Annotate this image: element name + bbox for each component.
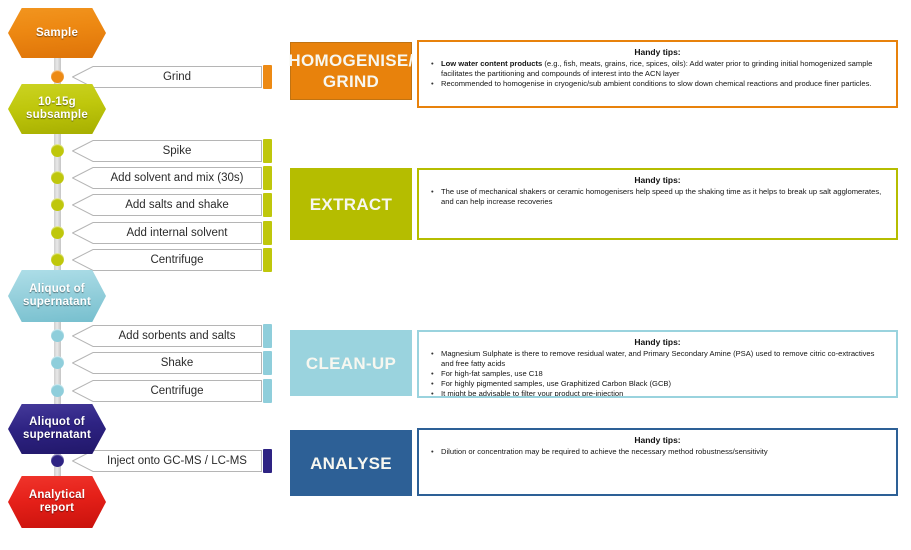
flow-step-endcap bbox=[263, 351, 272, 375]
flow-step-endcap bbox=[263, 379, 272, 403]
flow-node-label: Aliquot of supernatant bbox=[8, 416, 106, 442]
flow-node-3: Aliquot of supernatant bbox=[8, 270, 106, 322]
flow-step-label: Add internal solvent bbox=[72, 222, 262, 244]
stage-label-text: EXTRACT bbox=[306, 194, 396, 215]
bullet-icon: • bbox=[431, 187, 434, 197]
handy-tips-box-1: Handy tips:•Low water content products (… bbox=[417, 40, 898, 108]
handy-tips-title: Handy tips: bbox=[428, 175, 887, 186]
handy-tips-box-2: Handy tips:•The use of mechanical shaker… bbox=[417, 168, 898, 240]
stage-label-text: HOMOGENISE/ GRIND bbox=[284, 50, 417, 92]
stage-label-text: ANALYSE bbox=[306, 453, 396, 474]
handy-tip-item: •Dilution or concentration may be requir… bbox=[428, 447, 887, 457]
flow-node-5: Analytical report bbox=[8, 476, 106, 528]
handy-tips-title: Handy tips: bbox=[428, 47, 887, 58]
flow-step-dot bbox=[51, 144, 64, 157]
flow-step-label: Grind bbox=[72, 66, 262, 88]
flow-step-endcap bbox=[263, 248, 272, 272]
flow-step-9: Centrifuge bbox=[72, 380, 262, 402]
handy-tips-list: •The use of mechanical shakers or cerami… bbox=[428, 187, 887, 206]
handy-tips-list: •Dilution or concentration may be requir… bbox=[428, 447, 887, 457]
flow-step-label: Centrifuge bbox=[72, 249, 262, 271]
flow-step-label: Add salts and shake bbox=[72, 194, 262, 216]
handy-tip-item: •Low water content products (e.g., fish,… bbox=[428, 59, 887, 78]
handy-tips-list: •Magnesium Sulphate is there to remove r… bbox=[428, 349, 887, 398]
flow-step-dot bbox=[51, 253, 64, 266]
stage-label-analyse: ANALYSE bbox=[290, 430, 412, 496]
bullet-icon: • bbox=[431, 349, 434, 359]
flow-step-8: Shake bbox=[72, 352, 262, 374]
handy-tips-title: Handy tips: bbox=[428, 435, 887, 446]
flow-step-label: Inject onto GC-MS / LC-MS bbox=[72, 450, 262, 472]
handy-tip-text: For high-fat samples, use C18 bbox=[441, 369, 543, 378]
flow-step-endcap bbox=[263, 65, 272, 89]
flow-step-label: Add sorbents and salts bbox=[72, 325, 262, 347]
flow-step-label: Spike bbox=[72, 140, 262, 162]
stage-label-text: CLEAN-UP bbox=[302, 353, 400, 374]
flow-step-endcap bbox=[263, 166, 272, 190]
flow-step-endcap bbox=[263, 193, 272, 217]
handy-tip-text: Dilution or concentration may be require… bbox=[441, 447, 768, 456]
bullet-icon: • bbox=[431, 79, 434, 89]
flow-step-dot bbox=[51, 226, 64, 239]
handy-tip-text: The use of mechanical shakers or ceramic… bbox=[441, 187, 881, 206]
bullet-icon: • bbox=[431, 379, 434, 389]
stage-label-clean-up: CLEAN-UP bbox=[290, 330, 412, 396]
flow-node-label: Sample bbox=[30, 27, 84, 40]
flow-step-4: Add salts and shake bbox=[72, 194, 262, 216]
handy-tips-title: Handy tips: bbox=[428, 337, 887, 348]
flow-step-dot bbox=[51, 70, 64, 83]
stage-label-homogenise-grind: HOMOGENISE/ GRIND bbox=[290, 42, 412, 100]
flow-step-label: Add solvent and mix (30s) bbox=[72, 167, 262, 189]
flow-step-7: Add sorbents and salts bbox=[72, 325, 262, 347]
workflow-diagram: Sample10-15g subsampleAliquot of superna… bbox=[0, 0, 911, 550]
handy-tips-box-3: Handy tips:•Magnesium Sulphate is there … bbox=[417, 330, 898, 398]
flow-step-dot bbox=[51, 198, 64, 211]
flow-node-label: Analytical report bbox=[8, 489, 106, 515]
flow-step-dot bbox=[51, 171, 64, 184]
handy-tip-text: Low water content products (e.g., fish, … bbox=[441, 59, 872, 78]
handy-tip-text: For highly pigmented samples, use Graphi… bbox=[441, 379, 671, 388]
flow-step-endcap bbox=[263, 139, 272, 163]
handy-tip-item: •It might be advisable to filter your pr… bbox=[428, 389, 887, 398]
handy-tip-text: Magnesium Sulphate is there to remove re… bbox=[441, 349, 874, 368]
flow-step-5: Add internal solvent bbox=[72, 222, 262, 244]
flow-step-dot bbox=[51, 384, 64, 397]
bullet-icon: • bbox=[431, 369, 434, 379]
flow-step-10: Inject onto GC-MS / LC-MS bbox=[72, 450, 262, 472]
bullet-icon: • bbox=[431, 389, 434, 398]
handy-tip-item: •The use of mechanical shakers or cerami… bbox=[428, 187, 887, 206]
flow-step-dot bbox=[51, 356, 64, 369]
flow-node-label: Aliquot of supernatant bbox=[8, 283, 106, 309]
stage-label-extract: EXTRACT bbox=[290, 168, 412, 240]
bullet-icon: • bbox=[431, 447, 434, 457]
flow-node-4: Aliquot of supernatant bbox=[8, 404, 106, 454]
handy-tips-box-4: Handy tips:•Dilution or concentration ma… bbox=[417, 428, 898, 496]
handy-tip-item: •For high-fat samples, use C18 bbox=[428, 369, 887, 379]
flow-node-1: Sample bbox=[8, 8, 106, 58]
flow-node-2: 10-15g subsample bbox=[8, 84, 106, 134]
flow-step-1: Grind bbox=[72, 66, 262, 88]
flow-step-label: Centrifuge bbox=[72, 380, 262, 402]
handy-tip-item: •Recommended to homogenise in cryogenic/… bbox=[428, 79, 887, 89]
handy-tips-list: •Low water content products (e.g., fish,… bbox=[428, 59, 887, 88]
flow-step-6: Centrifuge bbox=[72, 249, 262, 271]
flow-step-label: Shake bbox=[72, 352, 262, 374]
handy-tip-text: Recommended to homogenise in cryogenic/s… bbox=[441, 79, 872, 88]
flow-step-endcap bbox=[263, 221, 272, 245]
flow-step-2: Spike bbox=[72, 140, 262, 162]
handy-tip-text: It might be advisable to filter your pro… bbox=[441, 389, 623, 398]
bullet-icon: • bbox=[431, 59, 434, 69]
flow-node-label: 10-15g subsample bbox=[8, 96, 106, 122]
handy-tip-item: •Magnesium Sulphate is there to remove r… bbox=[428, 349, 887, 368]
flow-step-endcap bbox=[263, 324, 272, 348]
flow-step-3: Add solvent and mix (30s) bbox=[72, 167, 262, 189]
flow-step-dot bbox=[51, 329, 64, 342]
flow-step-endcap bbox=[263, 449, 272, 473]
flow-step-dot bbox=[51, 454, 64, 467]
handy-tip-item: •For highly pigmented samples, use Graph… bbox=[428, 379, 887, 389]
